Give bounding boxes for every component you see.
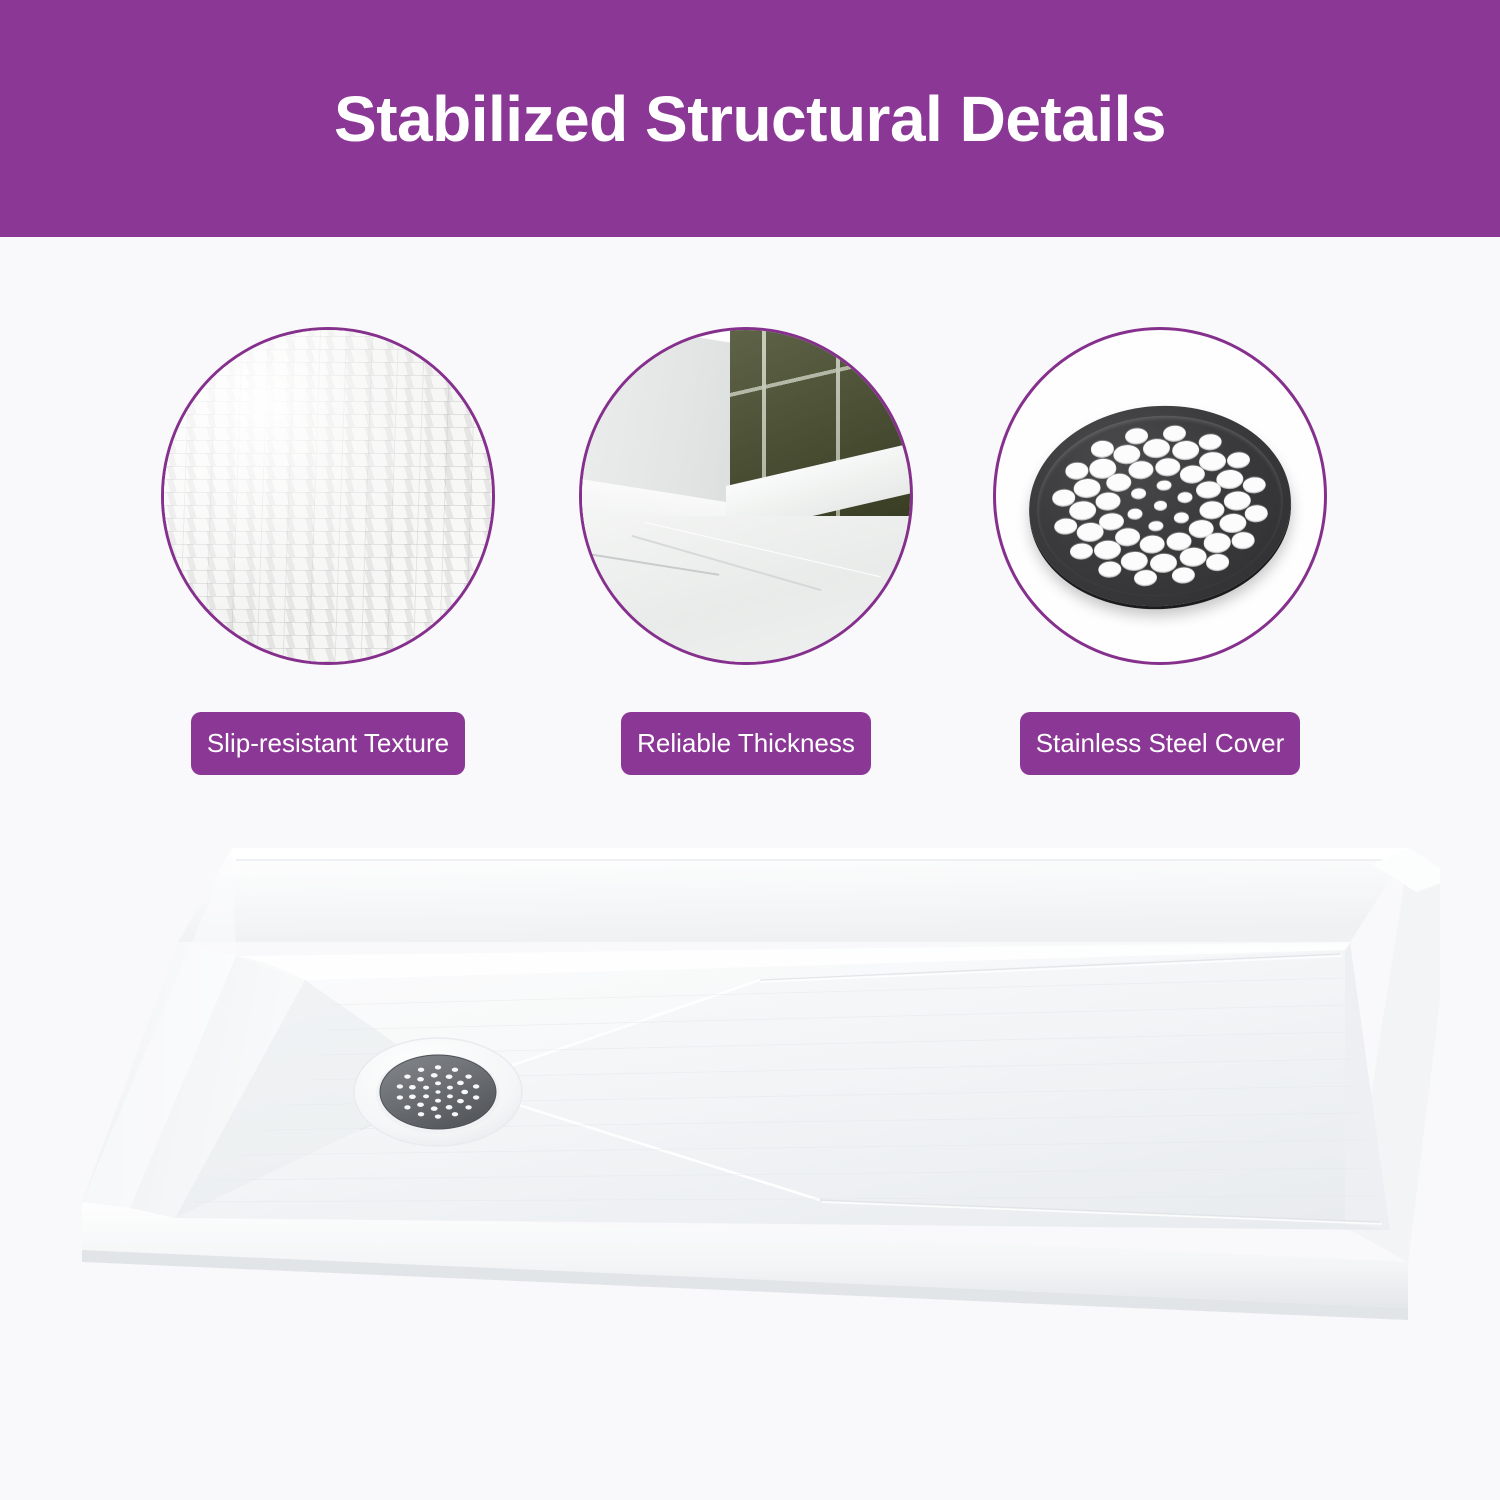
grate-hole <box>446 1074 453 1078</box>
drain-hole <box>1198 451 1226 472</box>
drain-hole <box>1098 561 1122 579</box>
drain-hole <box>1179 547 1207 568</box>
drain-hole <box>1198 433 1222 451</box>
drain-hole <box>1178 492 1194 504</box>
feature-label-stainless-steel-cover: Stainless Steel Cover <box>1020 712 1301 775</box>
drain-hole <box>1064 462 1088 480</box>
grate-hole <box>452 1068 458 1072</box>
feature-item-slip-resistant-texture[interactable]: Slip-resistant Texture <box>158 327 498 775</box>
drain-hole <box>1216 469 1244 490</box>
drain-hole <box>1232 532 1256 550</box>
grate-hole <box>409 1095 416 1099</box>
drain-cover-holes <box>1022 397 1297 615</box>
drain-assembly <box>354 1038 522 1146</box>
grate-hole <box>473 1095 479 1099</box>
grate-hole <box>431 1106 438 1110</box>
drain-hole <box>1173 512 1189 524</box>
drain-hole <box>1226 451 1250 469</box>
texture-highlight-icon <box>164 330 492 662</box>
drain-hole <box>1243 476 1267 494</box>
drain-hole <box>1244 505 1268 523</box>
grate-hole <box>457 1099 464 1103</box>
grate-hole <box>417 1077 424 1081</box>
grate-hole <box>423 1094 429 1098</box>
grate-hole <box>465 1105 471 1109</box>
feature-label-reliable-thickness: Reliable Thickness <box>621 712 871 775</box>
grate-hole <box>457 1081 464 1085</box>
grate-hole <box>465 1075 471 1079</box>
drain-hole <box>1172 567 1196 585</box>
grate-hole <box>435 1065 441 1069</box>
page-title: Stabilized Structural Details <box>334 87 1166 151</box>
drain-hole <box>1219 513 1247 534</box>
grate-hole <box>404 1105 410 1109</box>
drain-hole <box>1090 440 1114 458</box>
grate-hole <box>452 1112 458 1116</box>
grate-hole <box>435 1090 440 1093</box>
drain-hole <box>1095 492 1121 511</box>
grate-hole <box>409 1085 416 1089</box>
drain-hole <box>1162 425 1186 443</box>
drain-hole <box>1070 543 1094 561</box>
drain-hole <box>1199 500 1225 519</box>
grate-hole <box>461 1090 468 1094</box>
feature-item-stainless-steel-cover[interactable]: Stainless Steel Cover <box>990 327 1330 775</box>
drain-hole <box>1068 501 1096 522</box>
drain-hole <box>1076 522 1104 543</box>
feature-image-reliable-thickness <box>579 327 913 665</box>
drain-cover-icon <box>1022 397 1297 615</box>
grate-hole <box>431 1073 438 1077</box>
drain-hole <box>1139 535 1165 554</box>
grate-hole <box>435 1115 441 1119</box>
drain-hole <box>1206 554 1230 572</box>
page-header: Stabilized Structural Details <box>0 0 1500 237</box>
feature-item-reliable-thickness[interactable]: Reliable Thickness <box>576 327 916 775</box>
feature-image-slip-resistant-texture <box>161 327 495 665</box>
drain-hole <box>1053 518 1077 536</box>
product-image-section <box>0 800 1500 1360</box>
pan-floor-icon <box>579 516 913 665</box>
grate-hole <box>446 1105 453 1109</box>
grate-hole <box>418 1112 424 1116</box>
grate-hole <box>435 1099 441 1103</box>
drain-hole <box>1131 488 1147 500</box>
grate-hole <box>473 1084 479 1088</box>
drain-hole <box>1203 532 1231 553</box>
drain-hole <box>1127 508 1143 520</box>
shower-base-pan-render <box>60 830 1440 1350</box>
drain-hole <box>1094 540 1122 561</box>
grate-hole <box>423 1086 429 1090</box>
drain-hole <box>1142 438 1170 459</box>
drain-hole <box>1155 457 1181 476</box>
drain-hole <box>1172 440 1200 461</box>
grate-hole <box>418 1068 424 1072</box>
feature-label-slip-resistant-texture: Slip-resistant Texture <box>191 712 465 775</box>
drain-hole <box>1134 569 1158 587</box>
grate-hole <box>397 1084 403 1088</box>
grate-hole <box>447 1086 453 1090</box>
grate-hole <box>417 1102 424 1106</box>
grate-hole <box>404 1075 410 1079</box>
feature-highlights: Slip-resistant Texture Reliable Thicknes… <box>0 327 1500 772</box>
drain-hole <box>1153 501 1167 511</box>
grate-hole <box>397 1095 403 1099</box>
drain-hole <box>1148 520 1164 532</box>
feature-image-stainless-steel-cover <box>993 327 1327 665</box>
grate-hole <box>447 1094 453 1098</box>
drain-hole <box>1156 480 1172 492</box>
grate-hole <box>435 1081 441 1085</box>
drain-hole <box>1120 551 1148 572</box>
